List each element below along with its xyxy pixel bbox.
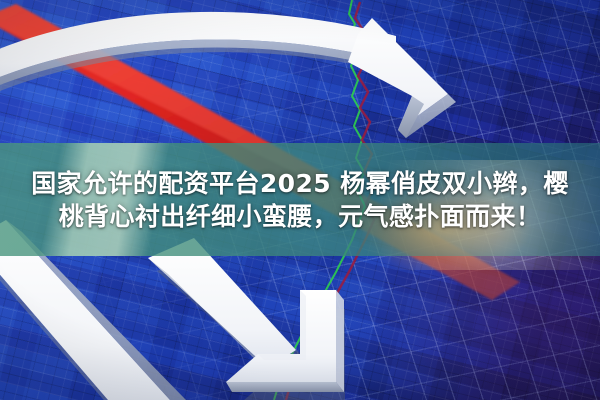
headline-line-2: 桃背心衬出纤细小蛮腰，元气感扑面而来！ bbox=[59, 202, 542, 231]
headline: 国家允许的配资平台2025 杨幂俏皮双小辫，樱 桃背心衬出纤细小蛮腰，元气感扑面… bbox=[0, 143, 600, 256]
headline-line-1: 国家允许的配资平台2025 杨幂俏皮双小辫，樱 bbox=[31, 169, 569, 198]
promo-banner: 国家允许的配资平台2025 杨幂俏皮双小辫，樱 桃背心衬出纤细小蛮腰，元气感扑面… bbox=[0, 0, 600, 400]
